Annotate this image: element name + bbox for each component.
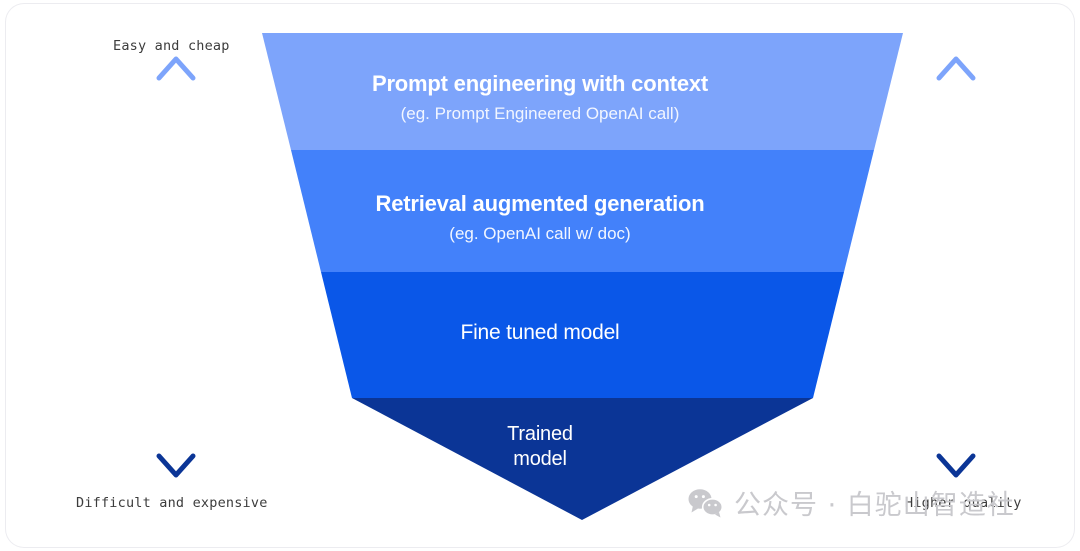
- wechat-icon: [688, 488, 724, 518]
- funnel-band-retrieval-augmented-generation[interactable]: [291, 150, 874, 272]
- watermark-text: 公众号 · 白驼山智造社: [734, 483, 1015, 522]
- diagram-canvas: Prompt engineering with context (eg. Pro…: [0, 0, 1080, 551]
- right-axis-arrow: [926, 52, 986, 482]
- funnel-band-prompt-engineering[interactable]: [262, 33, 903, 150]
- axis-label-easy-and-cheap: Easy and cheap: [113, 38, 230, 54]
- left-axis-arrow: [146, 52, 206, 482]
- funnel-band-fine-tuned-model[interactable]: [321, 272, 844, 398]
- axis-label-difficult-and-expensive: Difficult and expensive: [76, 495, 268, 511]
- watermark: 公众号 · 白驼山智造社: [688, 483, 1015, 522]
